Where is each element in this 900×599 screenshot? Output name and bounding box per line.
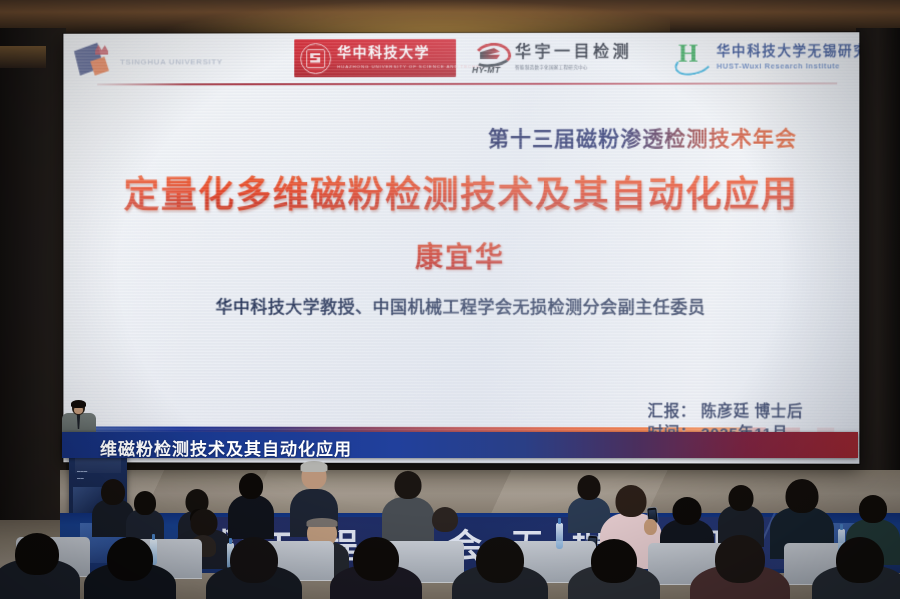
hust-logo: 华中科技大学 HUAZHONG UNIVERSITY OF SCIENCE AN… (294, 39, 456, 77)
right-wall (856, 28, 900, 533)
audience-head (353, 537, 399, 581)
wuxi-logo-cn: 华中科技大学无锡研究院 (717, 45, 860, 59)
hymt-logo: HY-MT 华宇一目检测 智能制造数字化国家工程研究中心 (470, 39, 632, 77)
wuxi-h-icon: H (674, 41, 710, 75)
audience-person (84, 537, 176, 599)
audience-shoulders (382, 497, 434, 541)
audience-head (107, 537, 153, 581)
thu-orange-square-icon (90, 57, 109, 76)
audience-person (430, 507, 460, 537)
wuxi-letter-h-icon: H (678, 44, 701, 66)
presenter-line: 汇报： 陈彦廷 博士后 (648, 401, 803, 424)
slide-main-title: 定量化多维磁粉检测技术及其自动化应用 (63, 166, 859, 218)
audience-head (134, 491, 156, 515)
audience-person (228, 473, 274, 539)
ceiling-light-glow (150, 0, 670, 34)
thu-logo: TSINGHUA UNIVERSITY (75, 41, 304, 81)
lower-banner-text: 维磁粉检测技术及其自动化应用 (100, 435, 352, 460)
hymt-swoosh-icon: HY-MT (470, 41, 510, 75)
slide-logo-bar: TSINGHUA UNIVERSITY 华中科技大学 HUAZHONG UNIV… (63, 32, 859, 89)
lower-led-banner: 维磁粉检测技术及其自动化应用 (62, 432, 858, 458)
hymt-logo-cn: 华宇一目检测 (515, 45, 632, 61)
audience-head (432, 507, 458, 532)
audience-head (616, 485, 647, 517)
audience (0, 470, 900, 599)
hymt-logo-en: 智能制造数字化国家工程研究中心 (515, 65, 632, 71)
audience-head (591, 539, 637, 583)
speaker-affiliation: 华中科技大学教授、中国机械工程学会无损检测分会副主任委员 (63, 293, 859, 318)
audience-head (239, 473, 263, 499)
audience-head (673, 497, 702, 525)
audience-person (206, 537, 302, 599)
thu-logo-text: TSINGHUA UNIVERSITY (120, 57, 223, 66)
projection-screen: TSINGHUA UNIVERSITY 华中科技大学 HUAZHONG UNIV… (63, 32, 859, 463)
audience-person (452, 537, 548, 599)
audience-head (786, 479, 819, 513)
audience-head (395, 471, 422, 499)
audience-head (191, 509, 218, 536)
wuxi-institute-logo: H 华中科技大学无锡研究院 HUST-Wuxi Research Institu… (674, 36, 859, 78)
audience-head (230, 537, 278, 583)
audience-person (690, 535, 790, 599)
audience-head (836, 537, 884, 583)
audience-person (568, 539, 660, 599)
left-wall-trim (0, 46, 46, 68)
conference-subtitle: 第十三届磁粉渗透检测技术年会 (488, 123, 797, 153)
presenter-hair (71, 400, 86, 408)
hand (644, 519, 657, 535)
hust-seal-icon (300, 43, 331, 74)
audience-person (0, 533, 80, 599)
conference-photo: TSINGHUA UNIVERSITY 华中科技大学 HUAZHONG UNIV… (0, 0, 900, 599)
audience-head (715, 535, 765, 583)
left-wall (0, 28, 66, 528)
audience-head (101, 479, 125, 505)
audience-hair (301, 461, 328, 472)
audience-person (126, 491, 164, 543)
audience-head (578, 475, 601, 500)
audience-person (812, 537, 900, 599)
audience-shoulders (228, 495, 274, 539)
audience-head (15, 533, 59, 575)
thu-mark-icon (75, 45, 115, 79)
hymt-abbr-text: HY-MT (472, 65, 500, 75)
audience-head (476, 537, 524, 583)
speaker-name: 康宜华 (63, 236, 859, 276)
audience-hair (307, 518, 338, 527)
audience-head (859, 495, 887, 523)
audience-person (382, 471, 434, 541)
logo-bar-divider (97, 82, 837, 85)
audience-person (330, 537, 422, 599)
wuxi-logo-en: HUST-Wuxi Research Institute (717, 61, 860, 70)
water-bottle (556, 523, 563, 549)
audience-head (729, 485, 754, 511)
